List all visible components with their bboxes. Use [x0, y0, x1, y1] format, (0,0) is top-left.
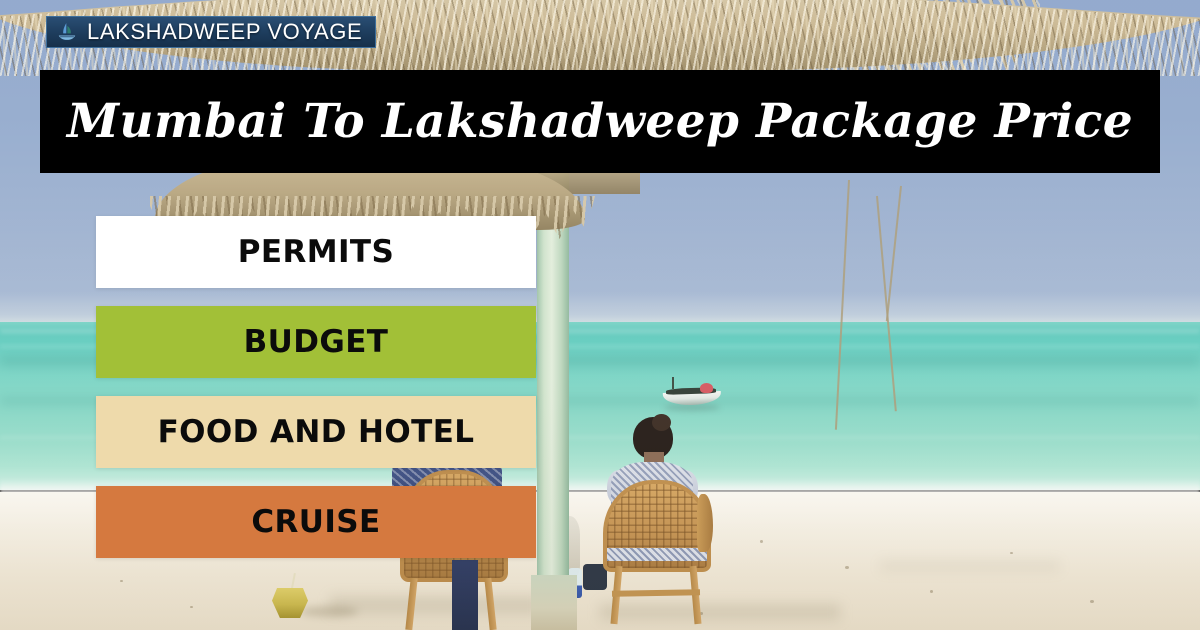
- category-label: CRUISE: [251, 504, 380, 540]
- sand-speck: [1010, 552, 1013, 554]
- sand-shadow: [330, 596, 540, 614]
- coconut-shadow: [300, 606, 358, 617]
- hut-pillar: [537, 172, 569, 630]
- poster-canvas: LAKSHADWEEP VOYAGE Mumbai To Lakshadweep…: [0, 0, 1200, 630]
- hut-pillar-base: [531, 575, 577, 630]
- sand-speck: [845, 566, 849, 569]
- sand-speck: [190, 606, 193, 608]
- boat-mast: [672, 377, 674, 389]
- chair-cushion: [607, 548, 707, 561]
- boat-canopy: [700, 383, 713, 393]
- sand-speck: [1090, 600, 1094, 603]
- category-bar-budget[interactable]: BUDGET: [96, 306, 536, 378]
- sand-shadow: [600, 604, 840, 620]
- sand-shadow: [880, 560, 1060, 572]
- category-bar-list: PERMITS BUDGET FOOD AND HOTEL CRUISE: [96, 216, 536, 558]
- person-left-leg: [452, 560, 478, 630]
- category-label: PERMITS: [238, 234, 394, 270]
- category-bar-permits[interactable]: PERMITS: [96, 216, 536, 288]
- sand-speck: [760, 540, 763, 543]
- brand-logo-badge[interactable]: LAKSHADWEEP VOYAGE: [46, 16, 376, 48]
- category-bar-cruise[interactable]: CRUISE: [96, 486, 536, 558]
- category-label: BUDGET: [244, 324, 389, 360]
- sand-speck: [120, 580, 123, 582]
- page-title: Mumbai To Lakshadweep Package Price: [67, 94, 1133, 149]
- category-bar-food-and-hotel[interactable]: FOOD AND HOTEL: [96, 396, 536, 468]
- brand-name: LAKSHADWEEP VOYAGE: [87, 19, 362, 45]
- hair-bun: [652, 414, 671, 431]
- sand-speck: [930, 590, 933, 593]
- category-label: FOOD AND HOTEL: [158, 414, 475, 450]
- title-banner: Mumbai To Lakshadweep Package Price: [40, 70, 1160, 173]
- sailboat-icon: [56, 21, 78, 43]
- boat-reflection: [664, 404, 720, 411]
